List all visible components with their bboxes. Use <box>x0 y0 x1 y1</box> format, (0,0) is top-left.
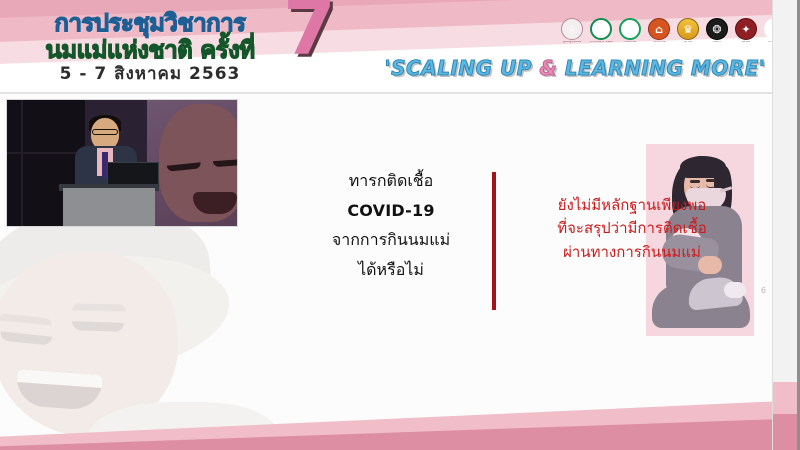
black-circle-logo-icon: ❂ <box>706 18 728 40</box>
logo-item: ♕ มูลนิธิศูนย์นมแม่ <box>560 18 584 44</box>
conference-date: 5 - 7 สิงหาคม 2563 <box>0 60 300 87</box>
slide-canvas: ทารกติดเชื้อ COVID-19 จากการกินนมแม่ ได้… <box>0 94 772 450</box>
sponsor-logo-strip: ♕ มูลนิธิศูนย์นมแม่ ✚ กระทรวงสาธารณสุข ✚… <box>560 18 787 44</box>
window-right-edge <box>772 0 800 450</box>
logo-caption: กรมอนามัย <box>618 41 642 44</box>
logo-item: ✚ กรมอนามัย <box>618 18 642 44</box>
presentation-screen: การประชุมวิชาการ นมแม่แห่งชาติ ครั้งที่ … <box>0 0 800 450</box>
logo-item: ✦ สมาคม <box>734 18 758 44</box>
red-vertical-divider <box>492 172 496 310</box>
tagline-prefix: 'SCALING UP <box>385 56 540 80</box>
thai-pediatric-logo-icon: ⌂ <box>648 18 670 40</box>
tagline-suffix: LEARNING MORE' <box>557 56 765 80</box>
edge-pink-light <box>773 382 800 416</box>
question-text-block: ทารกติดเชื้อ COVID-19 จากการกินนมแม่ ได้… <box>298 166 484 284</box>
logo-caption: สมาคม <box>734 41 758 44</box>
question-line: ทารกติดเชื้อ <box>298 166 484 196</box>
royal-seal-logo-icon: ♕ <box>561 18 583 40</box>
logo-caption: มูลนิธิศูนย์นมแม่ <box>560 41 584 44</box>
answer-text-block: ยังไม่มีหลักฐานเพียงพอ ที่จะสรุปว่ามีการ… <box>498 194 766 264</box>
answer-line: ยังไม่มีหลักฐานเพียงพอ <box>498 194 766 217</box>
logo-item: ✚ กระทรวงสาธารณสุข <box>589 18 613 44</box>
conference-tagline: 'SCALING UP & LEARNING MORE' <box>360 56 790 80</box>
red-seal-logo-icon: ✦ <box>735 18 757 40</box>
logo-item: ♛ สถาบัน <box>676 18 700 44</box>
answer-line: ที่จะสรุปว่ามีการติดเชื้อ <box>498 217 766 240</box>
question-line: ได้หรือไม่ <box>298 255 484 285</box>
health-department-logo-icon: ✚ <box>619 18 641 40</box>
edge-pink-dark <box>773 414 800 450</box>
royal-emblem-logo-icon: ♛ <box>677 18 699 40</box>
logo-caption: องค์กร <box>705 41 729 44</box>
tagline-ampersand: & <box>539 56 557 80</box>
smiling-child-in-hat-photo <box>0 206 276 450</box>
logo-item: ❂ องค์กร <box>705 18 729 44</box>
question-line: จากการกินนมแม่ <box>298 225 484 255</box>
logo-caption: กระทรวงสาธารณสุข <box>589 41 613 44</box>
ministry-public-health-logo-icon: ✚ <box>590 18 612 40</box>
logo-item: ⌂ ราชวิทยาลัย <box>647 18 671 44</box>
slide-number: 6 <box>761 286 766 295</box>
conference-banner: การประชุมวิชาการ นมแม่แห่งชาติ ครั้งที่ … <box>0 0 800 94</box>
logo-caption: ราชวิทยาลัย <box>647 41 671 44</box>
logo-caption: สถาบัน <box>676 41 700 44</box>
banner-title-group: การประชุมวิชาการ นมแม่แห่งชาติ ครั้งที่ … <box>0 0 300 94</box>
speaker-at-podium-video[interactable] <box>6 99 238 227</box>
answer-line: ผ่านทางการกินนมแม่ <box>498 241 766 264</box>
edition-number: 7 <box>283 0 336 66</box>
question-line-covid: COVID-19 <box>298 196 484 226</box>
